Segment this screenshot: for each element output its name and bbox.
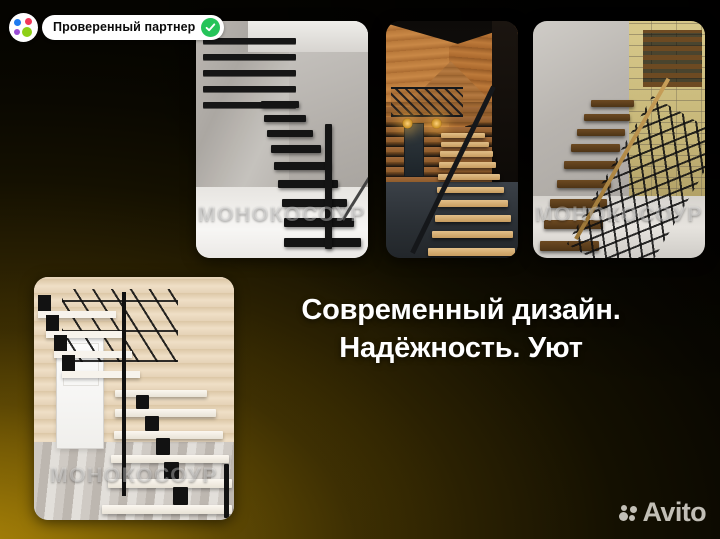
photo-wooden-chalet-staircase xyxy=(386,21,518,258)
headline: Современный дизайн. Надёжность. Уют xyxy=(243,292,679,367)
headline-line-2: Надёжность. Уют xyxy=(243,330,679,368)
photo-card-dark-wood-staircase[interactable]: МОНОКОСОУР xyxy=(533,21,705,258)
stair-treads xyxy=(420,97,515,258)
photo-card-black-staircase[interactable]: МОНОКОСОУР xyxy=(196,21,368,258)
photo-card-white-staircase[interactable]: МОНОКОСОУР xyxy=(34,277,234,520)
logo-dot-purple xyxy=(14,29,20,35)
logo-dot-blue xyxy=(14,19,21,26)
stair-treads xyxy=(84,294,232,518)
verified-check-icon xyxy=(201,18,220,37)
verified-partner-badge[interactable]: Проверенный партнер xyxy=(9,13,224,42)
avito-dots-logo-icon xyxy=(619,503,639,523)
avito-wordmark: Avito xyxy=(643,499,707,526)
photo-white-staircase-wood-wall: МОНОКОСОУР xyxy=(34,277,234,520)
avito-logo-icon xyxy=(9,13,38,42)
wall-lamp-left xyxy=(402,118,413,129)
logo-dot-red xyxy=(25,18,32,25)
photo-card-wooden-chalet[interactable] xyxy=(386,21,518,258)
ad-creative-canvas: Проверенный партнер xyxy=(0,0,720,539)
photo-dark-wood-staircase-brick: МОНОКОСОУР xyxy=(533,21,705,258)
verified-partner-label: Проверенный партнер xyxy=(53,21,195,34)
verified-partner-pill[interactable]: Проверенный партнер xyxy=(42,15,224,40)
photo-black-staircase-concrete: МОНОКОСОУР xyxy=(196,21,368,258)
headline-line-1: Современный дизайн. xyxy=(301,294,620,326)
avito-brand-mark: Avito xyxy=(619,499,707,526)
newel-post xyxy=(122,292,126,496)
logo-dot-green xyxy=(22,27,32,37)
